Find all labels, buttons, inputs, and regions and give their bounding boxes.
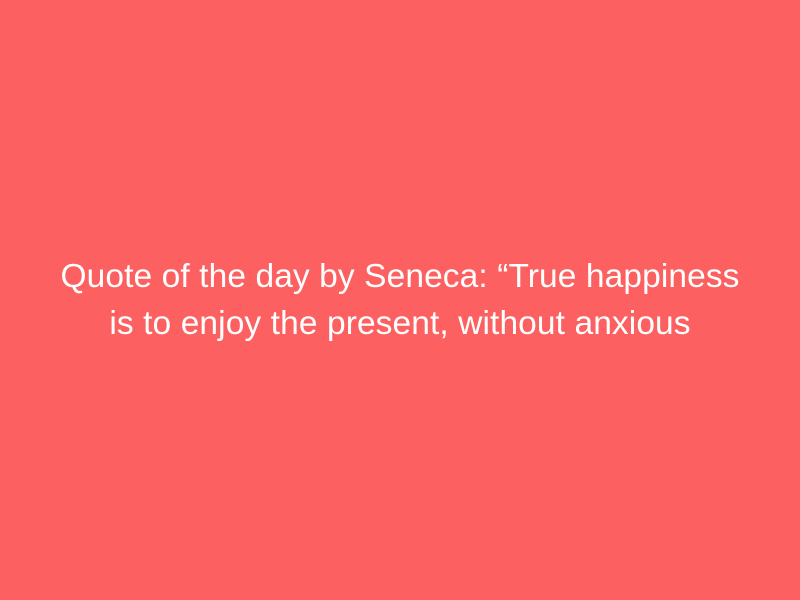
quote-text: Quote of the day by Seneca: “True happin… [50, 253, 750, 347]
quote-card: Quote of the day by Seneca: “True happin… [0, 0, 800, 600]
